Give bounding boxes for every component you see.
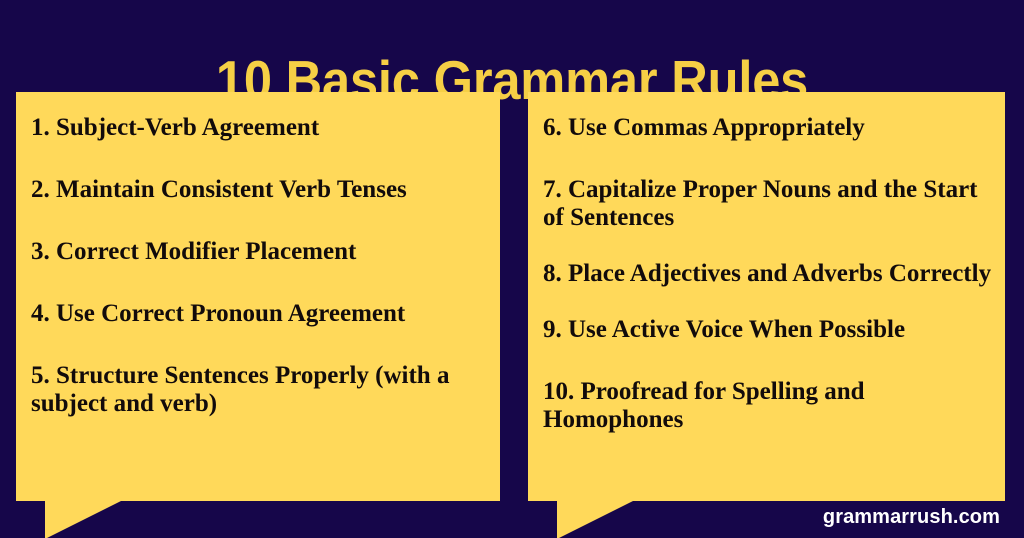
site-watermark: grammarrush.com	[823, 506, 1000, 528]
rule-item-4: 4. Use Correct Pronoun Agreement	[31, 300, 488, 328]
rule-item-1: 1. Subject-Verb Agreement	[31, 114, 488, 142]
rule-item-10: 10. Proofread for Spelling and Homophone…	[543, 378, 993, 434]
rule-item-7: 7. Capitalize Proper Nouns and the Start…	[543, 176, 993, 232]
rule-item-3: 3. Correct Modifier Placement	[31, 238, 488, 266]
rule-item-8: 8. Place Adjectives and Adverbs Correctl…	[543, 260, 993, 288]
speech-bubble-tail-right	[557, 501, 633, 538]
speech-bubble-tail-left	[45, 501, 121, 538]
rule-list-right: 6. Use Commas Appropriately 7. Capitaliz…	[543, 114, 993, 434]
rule-item-2: 2. Maintain Consistent Verb Tenses	[31, 176, 488, 204]
rule-item-9: 9. Use Active Voice When Possible	[543, 316, 993, 344]
infographic-canvas: 10 Basic Grammar Rules 1. Subject-Verb A…	[0, 0, 1024, 538]
rule-item-6: 6. Use Commas Appropriately	[543, 114, 993, 142]
rule-list-left: 1. Subject-Verb Agreement 2. Maintain Co…	[31, 114, 488, 418]
rules-panel-right: 6. Use Commas Appropriately 7. Capitaliz…	[528, 92, 1005, 501]
rule-item-5: 5. Structure Sentences Properly (with a …	[31, 362, 488, 418]
rules-panel-left: 1. Subject-Verb Agreement 2. Maintain Co…	[16, 92, 500, 501]
